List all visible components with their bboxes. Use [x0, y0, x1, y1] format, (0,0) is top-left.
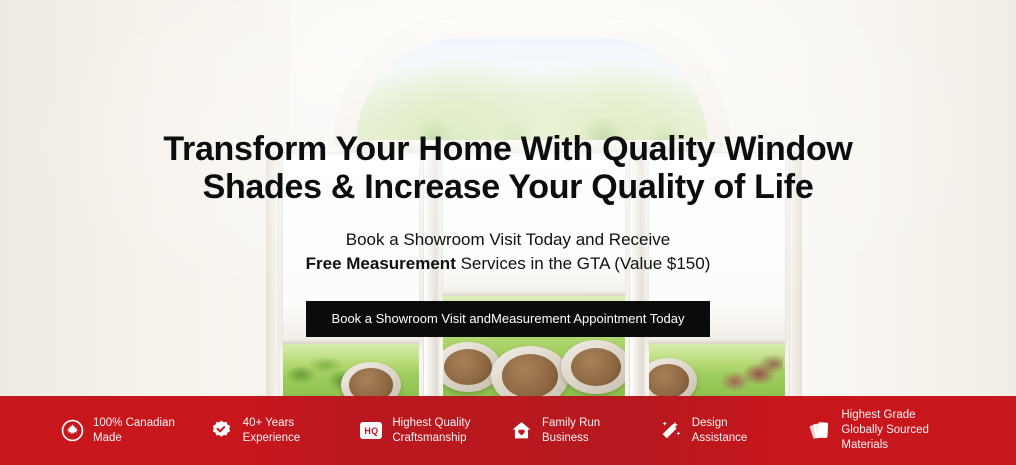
book-showroom-visit-button[interactable]: Book a Showroom Visit and Measurement Ap… [306, 301, 711, 337]
subheading-line-2: Services in the GTA (Value $150) [456, 254, 711, 273]
feature-label: Design Assistance [692, 416, 748, 445]
fabric-swatches-icon [808, 419, 832, 443]
feature-bar: 100% Canadian Made 40+ Years Experience … [0, 396, 1016, 465]
feature-family-run: Family Run Business [509, 416, 659, 445]
maple-leaf-icon [60, 419, 84, 443]
hq-badge-icon: HQ [359, 419, 383, 443]
feature-label: 100% Canadian Made [93, 416, 175, 445]
cta-line-1: Book a Showroom Visit and [332, 310, 491, 328]
feature-label: Highest Grade Globally Sourced Materials [841, 408, 929, 452]
hero-banner: Transform Your Home With Quality Window … [0, 0, 1016, 465]
feature-canadian-made: 100% Canadian Made [60, 416, 210, 445]
hero-subheading: Book a Showroom Visit Today and Receive … [188, 228, 828, 276]
cta-line-2: Measurement Appointment Today [491, 310, 684, 328]
subheading-highlight: Free Measurement [306, 254, 456, 273]
feature-years-experience: 40+ Years Experience [210, 416, 360, 445]
feature-label: Family Run Business [542, 416, 600, 445]
feature-globally-sourced-materials: Highest Grade Globally Sourced Materials [808, 408, 958, 452]
check-badge-icon [210, 419, 234, 443]
hq-badge-text: HQ [360, 422, 382, 439]
feature-label: 40+ Years Experience [243, 416, 301, 445]
feature-list: 100% Canadian Made 40+ Years Experience … [0, 408, 1016, 452]
subheading-line-1: Book a Showroom Visit Today and Receive [346, 230, 670, 249]
feature-label: Highest Quality Craftsmanship [392, 416, 470, 445]
magic-wand-icon [659, 419, 683, 443]
house-heart-icon [509, 419, 533, 443]
feature-design-assistance: Design Assistance [659, 416, 809, 445]
page-title: Transform Your Home With Quality Window … [128, 130, 888, 206]
hero-content: Transform Your Home With Quality Window … [0, 0, 1016, 396]
feature-highest-quality: HQ Highest Quality Craftsmanship [359, 416, 509, 445]
